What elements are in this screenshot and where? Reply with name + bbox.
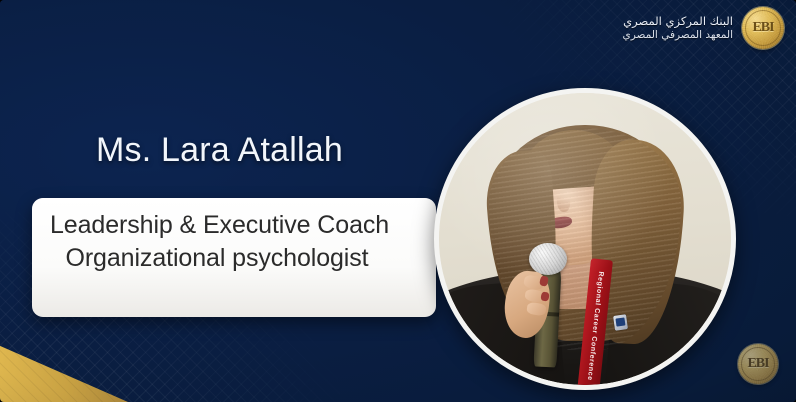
- gold-seal-watermark-icon: EBI: [738, 344, 778, 384]
- speaker-role-primary: Leadership & Executive Coach: [48, 211, 420, 240]
- brand-line-banking-institute: المعهد المصرفي المصري: [623, 29, 733, 42]
- portrait-fingernail-two: [540, 291, 549, 302]
- portrait-scene: Regional Career Conference: [439, 93, 731, 385]
- gold-seal-icon: EBI: [742, 7, 784, 49]
- seal-watermark-monogram: EBI: [747, 356, 768, 372]
- brand-line-central-bank: البنك المركزي المصري: [623, 14, 733, 28]
- portrait-badge-pin: [613, 314, 628, 330]
- seal-monogram: EBI: [752, 20, 773, 36]
- speaker-role-secondary: Organizational psychologist: [48, 244, 420, 273]
- presentation-slide: البنك المركزي المصري المعهد المصرفي المص…: [0, 0, 796, 402]
- brand-text: البنك المركزي المصري المعهد المصرفي المص…: [623, 14, 733, 42]
- portrait-lanyard-text: Regional Career Conference: [585, 272, 603, 382]
- brand-lockup: البنك المركزي المصري المعهد المصرفي المص…: [623, 7, 784, 49]
- speaker-title-card-inner: Leadership & Executive Coach Organizatio…: [32, 198, 436, 273]
- speaker-name: Ms. Lara Atallah: [96, 131, 343, 170]
- speaker-portrait: Regional Career Conference: [434, 88, 736, 390]
- speaker-title-card: Leadership & Executive Coach Organizatio…: [32, 198, 436, 317]
